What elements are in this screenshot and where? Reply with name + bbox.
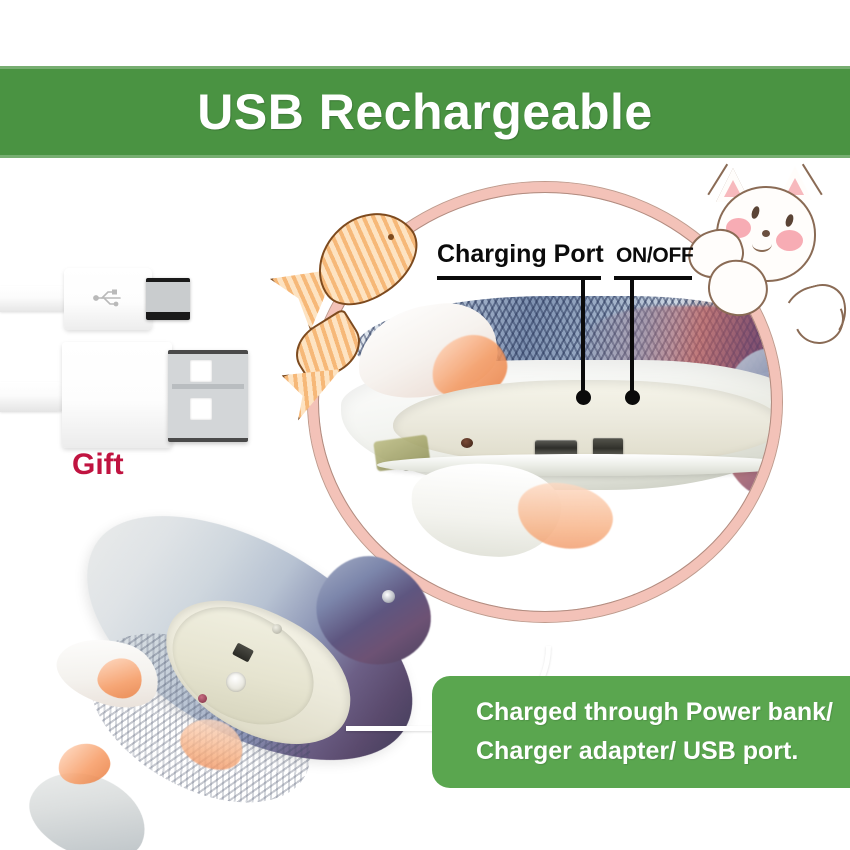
gift-label: Gift — [72, 450, 124, 480]
usb-a-housing — [62, 342, 172, 448]
header-banner: USB Rechargeable — [0, 66, 850, 158]
info-callout-box: Charged through Power bank/ Charger adap… — [432, 676, 850, 788]
charging-port-label: Charging Port — [437, 242, 604, 267]
banner-bottom-edge — [0, 155, 850, 158]
micro-usb-cord — [0, 286, 74, 312]
cartoon-fish-outline — [288, 218, 418, 418]
usb-a-connector — [0, 338, 270, 450]
bottom-fish-eye — [382, 590, 395, 603]
charging-port-underline — [437, 276, 601, 280]
micro-usb-tip — [146, 278, 190, 320]
cat-mouth — [752, 236, 772, 252]
page-title: USB Rechargeable — [197, 87, 652, 137]
usb-a-contact-bar — [172, 384, 244, 389]
charging-port-leader-dot — [576, 390, 591, 405]
onoff-label: ON/OFF — [616, 245, 694, 266]
usb-a-contact-pad — [190, 398, 212, 420]
usb-trident-icon — [92, 286, 126, 310]
info-line-1: Charged through Power bank/ — [476, 693, 850, 732]
micro-usb-connector — [0, 262, 200, 332]
bottom-fish-screw — [272, 624, 282, 634]
onoff-leader-dot — [625, 390, 640, 405]
onoff-underline — [614, 276, 692, 280]
cartoon-fish-eye — [388, 234, 394, 240]
cat-blush-right — [776, 230, 803, 251]
cartoon-cat — [686, 168, 850, 358]
plush-fish-open-bottom — [40, 528, 460, 850]
charging-port-leader-line — [581, 276, 585, 394]
onoff-leader-line — [630, 276, 634, 394]
infographic-canvas: USB Rechargeable Gift — [0, 0, 850, 850]
bottom-fish-led — [198, 694, 207, 703]
banner-top-edge — [0, 66, 850, 69]
usb-a-contact-pad — [190, 360, 212, 382]
info-line-2: Charger adapter/ USB port. — [476, 732, 850, 771]
